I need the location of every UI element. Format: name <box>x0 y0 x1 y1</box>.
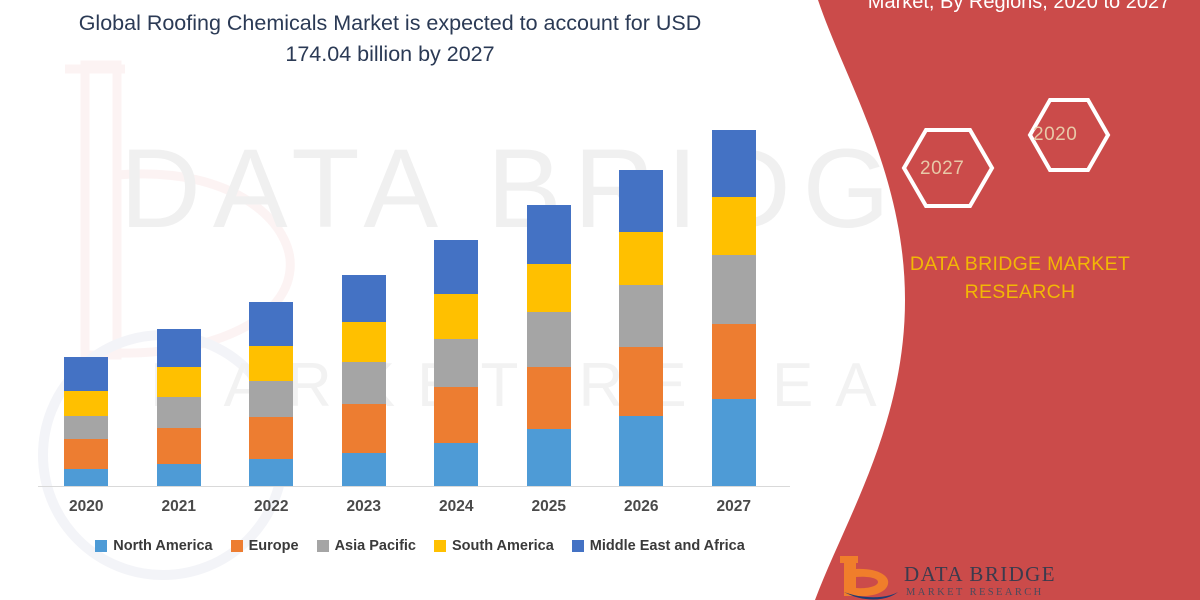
brand-line-1: DATA BRIDGE MARKET <box>910 253 1130 275</box>
bar-segment[interactable] <box>64 357 108 390</box>
legend-item[interactable]: Middle East and Africa <box>572 538 745 554</box>
bar-segment[interactable] <box>342 362 386 404</box>
bar-segment[interactable] <box>527 264 571 312</box>
bar-column-2024[interactable] <box>434 240 478 486</box>
bar-segment[interactable] <box>712 324 756 399</box>
hexagon-group: 2020 2027 <box>860 92 1190 222</box>
legend-swatch-icon <box>95 540 107 552</box>
bar-segment[interactable] <box>249 302 293 345</box>
bar-segment[interactable] <box>342 275 386 322</box>
bar-segment[interactable] <box>157 428 201 465</box>
bar-segment[interactable] <box>157 397 201 427</box>
x-axis-line <box>38 486 790 487</box>
brand-name: DATA BRIDGE MARKET RESEARCH <box>860 250 1180 307</box>
bar-segment[interactable] <box>712 197 756 255</box>
legend-label: Asia Pacific <box>335 538 416 554</box>
chart-legend: North AmericaEuropeAsia PacificSouth Ame… <box>40 538 800 554</box>
bar-segment[interactable] <box>157 329 201 367</box>
bar-column-2021[interactable] <box>157 329 201 486</box>
bar-segment[interactable] <box>249 459 293 486</box>
bar-segment[interactable] <box>434 339 478 387</box>
bar-segment[interactable] <box>527 429 571 486</box>
x-tick-2024: 2024 <box>410 498 503 516</box>
legend-item[interactable]: Europe <box>231 538 299 554</box>
bar-column-2025[interactable] <box>527 205 571 486</box>
chart-title: Global Roofing Chemicals Market is expec… <box>60 8 720 69</box>
logo-bridge-icon <box>838 552 900 600</box>
bar-segment[interactable] <box>434 443 478 486</box>
bar-column-2023[interactable] <box>342 275 386 486</box>
bar-segment[interactable] <box>157 464 201 486</box>
bar-segment[interactable] <box>712 399 756 486</box>
x-tick-2020: 2020 <box>40 498 133 516</box>
x-tick-2027: 2027 <box>688 498 781 516</box>
bar-segment[interactable] <box>527 205 571 263</box>
bar-segment[interactable] <box>619 232 663 285</box>
bar-segment[interactable] <box>157 367 201 397</box>
bar-column-2020[interactable] <box>64 357 108 486</box>
bar-segment[interactable] <box>64 416 108 439</box>
x-tick-2022: 2022 <box>225 498 318 516</box>
bar-segment[interactable] <box>342 404 386 452</box>
legend-item[interactable]: North America <box>95 538 212 554</box>
bar-segment[interactable] <box>434 294 478 339</box>
bar-segment[interactable] <box>64 439 108 469</box>
hexagon-2027-label: 2027 <box>920 158 964 180</box>
legend-item[interactable]: South America <box>434 538 554 554</box>
bar-segment[interactable] <box>64 391 108 416</box>
bar-segment[interactable] <box>434 240 478 293</box>
logo-wordmark: DATA BRIDGE <box>904 562 1056 587</box>
legend-label: Middle East and Africa <box>590 538 745 554</box>
bar-segment[interactable] <box>249 417 293 459</box>
x-tick-2021: 2021 <box>133 498 226 516</box>
company-logo: DATA BRIDGE MARKET RESEARCH <box>838 552 1198 600</box>
bar-segment[interactable] <box>342 453 386 486</box>
legend-swatch-icon <box>434 540 446 552</box>
bar-segment[interactable] <box>712 130 756 197</box>
bar-segment[interactable] <box>527 312 571 367</box>
bar-segment[interactable] <box>619 170 663 232</box>
bar-segment[interactable] <box>249 346 293 381</box>
x-tick-2026: 2026 <box>595 498 688 516</box>
legend-swatch-icon <box>231 540 243 552</box>
bar-column-2026[interactable] <box>619 170 663 486</box>
bar-segment[interactable] <box>527 367 571 429</box>
bar-segment[interactable] <box>712 255 756 324</box>
bar-column-2022[interactable] <box>249 302 293 486</box>
legend-label: Europe <box>249 538 299 554</box>
panel-content: Market, By Regions, 2020 to 2027 2020 20… <box>860 0 1200 600</box>
x-tick-2023: 2023 <box>318 498 411 516</box>
bar-segment[interactable] <box>249 381 293 418</box>
bar-segment[interactable] <box>434 387 478 442</box>
brand-line-2: RESEARCH <box>965 281 1076 303</box>
infographic-canvas: DATA BRIDGE MARKET RESEARCH Global Roofi… <box>0 0 1200 600</box>
legend-item[interactable]: Asia Pacific <box>317 538 416 554</box>
hexagon-shapes <box>860 92 1190 222</box>
bar-column-2027[interactable] <box>712 130 756 486</box>
x-tick-2025: 2025 <box>503 498 596 516</box>
legend-label: North America <box>113 538 212 554</box>
hexagon-2020-label: 2020 <box>1033 124 1077 146</box>
legend-swatch-icon <box>572 540 584 552</box>
legend-swatch-icon <box>317 540 329 552</box>
panel-title: Market, By Regions, 2020 to 2027 <box>860 0 1178 16</box>
bar-segment[interactable] <box>619 416 663 486</box>
stacked-bar-plot <box>40 120 780 486</box>
bar-segment[interactable] <box>619 347 663 416</box>
x-axis-tick-labels: 20202021202220232024202520262027 <box>40 498 780 524</box>
bar-segment[interactable] <box>342 322 386 362</box>
bar-segment[interactable] <box>619 285 663 347</box>
logo-tagline: MARKET RESEARCH <box>906 587 1044 598</box>
bar-segment[interactable] <box>64 469 108 486</box>
chart-region: Global Roofing Chemicals Market is expec… <box>0 0 820 600</box>
legend-label: South America <box>452 538 554 554</box>
